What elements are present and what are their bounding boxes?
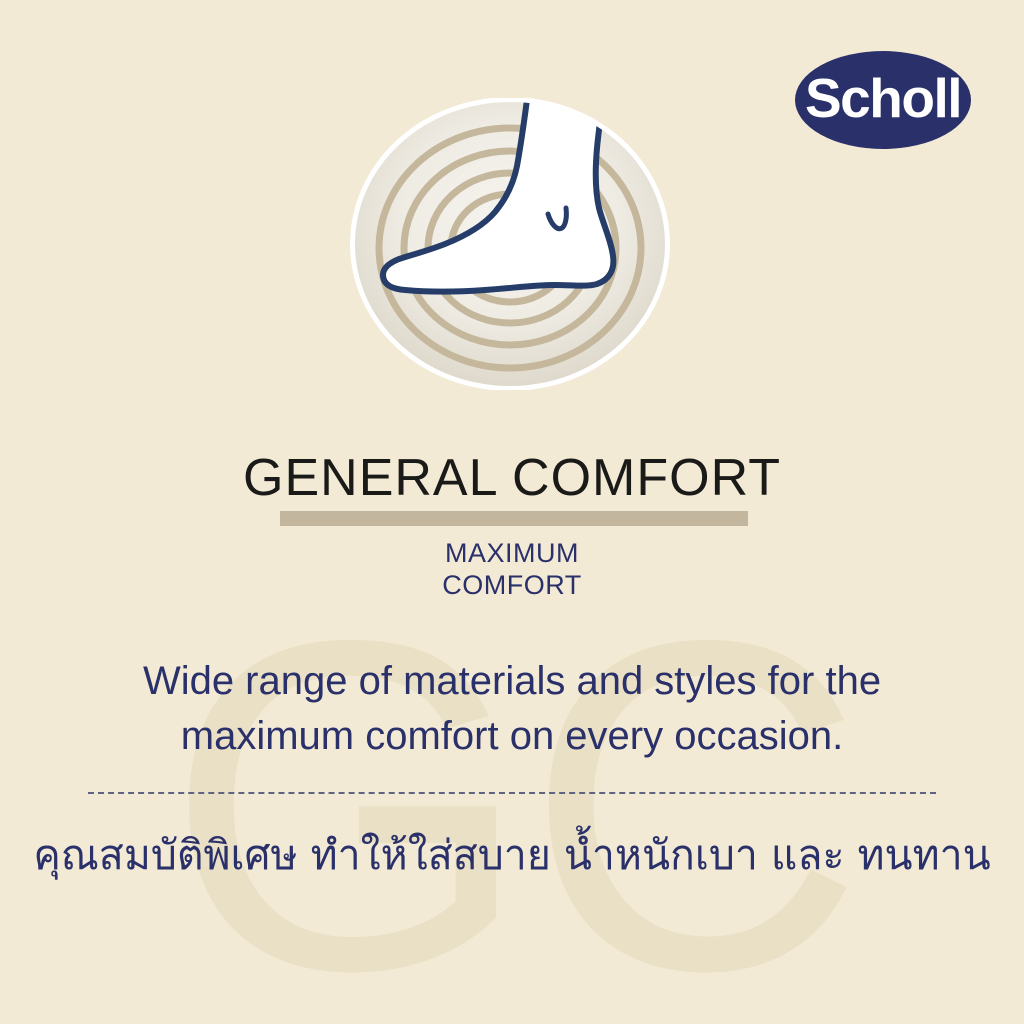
dashed-divider	[88, 792, 936, 794]
foot-on-ripples-icon	[349, 98, 671, 390]
description-english: Wide range of materials and styles for t…	[62, 654, 962, 764]
page-title: GENERAL COMFORT	[0, 452, 1024, 504]
description-thai: คุณสมบัติพิเศษ ทำให้ใส่สบาย น้ำหนักเบา แ…	[32, 828, 992, 883]
scholl-logo: Scholl	[795, 51, 971, 149]
scholl-logo-text: Scholl	[805, 71, 961, 126]
product-feature-card: GC Scholl	[0, 0, 1024, 1024]
subtitle-line-2: COMFORT	[0, 570, 1024, 602]
subtitle: MAXIMUM COMFORT	[0, 538, 1024, 602]
subtitle-line-1: MAXIMUM	[0, 538, 1024, 570]
title-underline-rule	[280, 511, 748, 526]
